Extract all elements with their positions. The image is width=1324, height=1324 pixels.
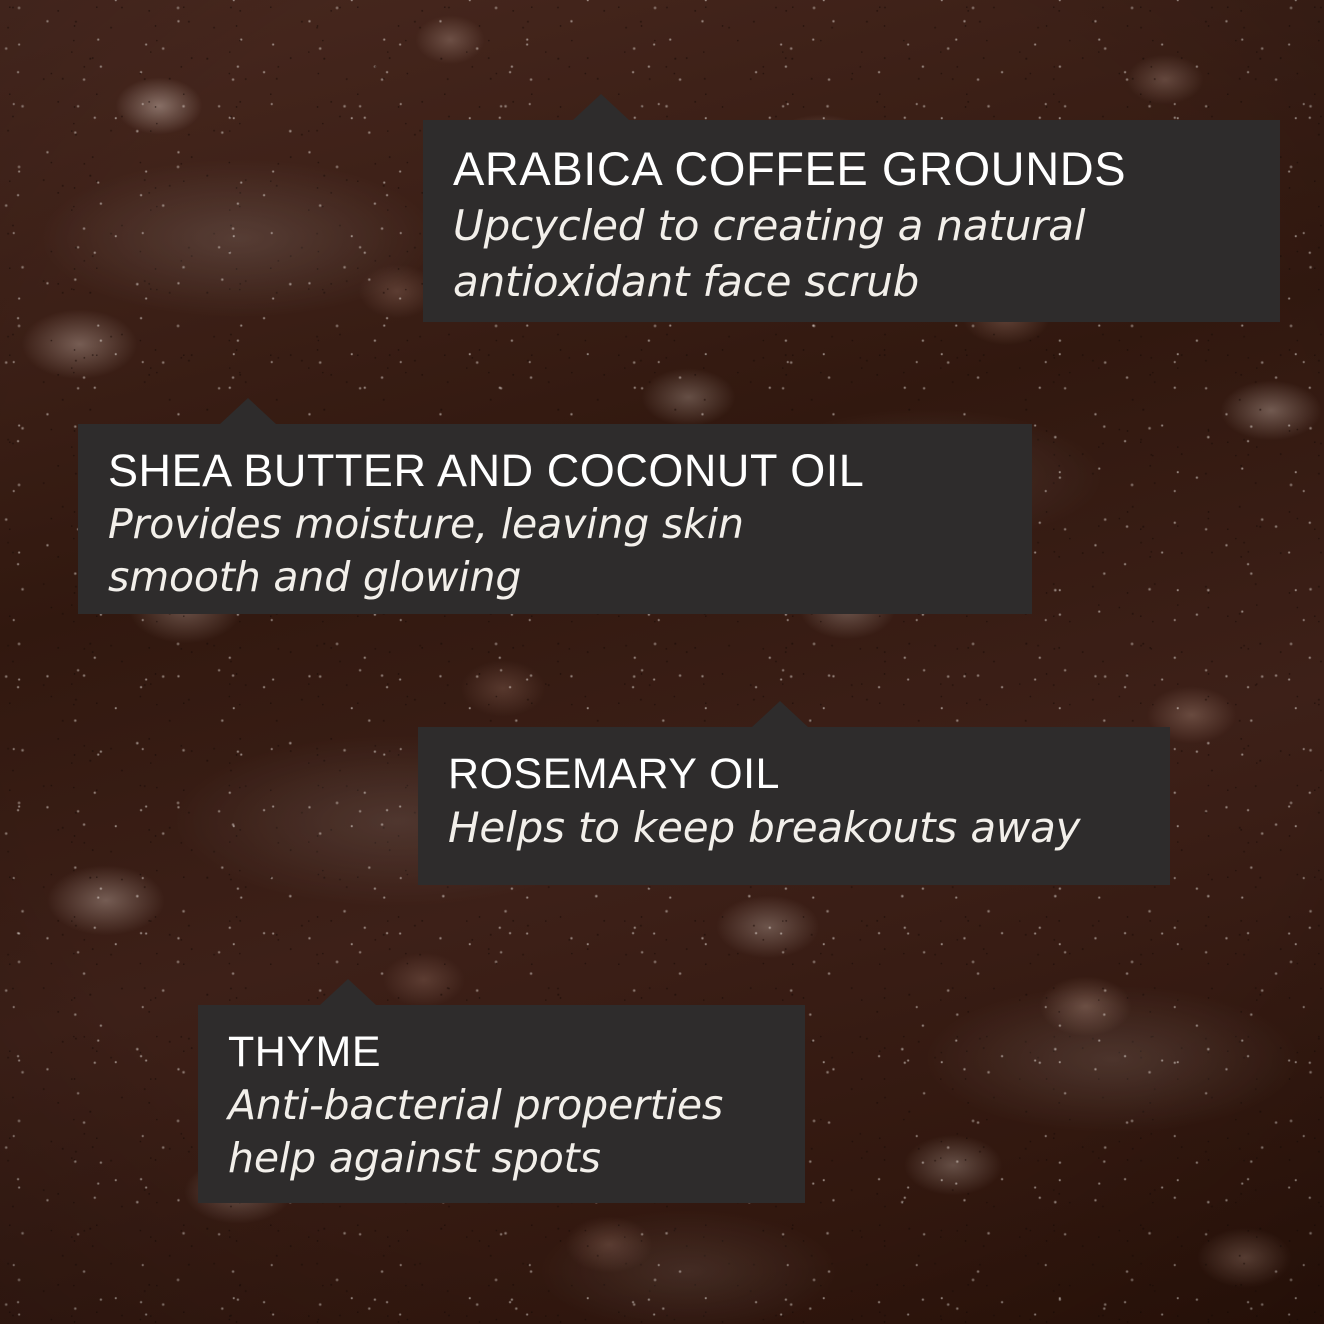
callout-title: ARABICA COFFEE GROUNDS bbox=[453, 140, 1250, 198]
callout-title: THYME bbox=[228, 1025, 775, 1079]
callout-description: Upcycled to creating a natural antioxida… bbox=[453, 198, 1250, 310]
callout-rosemary-oil: ROSEMARY OIL Helps to keep breakouts awa… bbox=[418, 727, 1170, 885]
callout-arabica-coffee-grounds: ARABICA COFFEE GROUNDS Upcycled to creat… bbox=[423, 120, 1280, 322]
callout-description: Provides moisture, leaving skin smooth a… bbox=[108, 498, 1002, 604]
callout-title: SHEA BUTTER AND COCONUT OIL bbox=[108, 444, 1002, 498]
callout-thyme: THYME Anti-bacterial properties help aga… bbox=[198, 1005, 805, 1203]
callout-description: Anti-bacterial properties help against s… bbox=[228, 1079, 775, 1185]
callout-description: Helps to keep breakouts away bbox=[448, 801, 1140, 855]
callout-pointer-icon bbox=[320, 979, 376, 1005]
callout-description-line: Helps to keep breakouts away bbox=[448, 801, 1140, 855]
callout-description-line: Upcycled to creating a natural bbox=[453, 198, 1250, 254]
callout-description-line: Provides moisture, leaving skin bbox=[108, 498, 1002, 551]
callout-description-line: help against spots bbox=[228, 1132, 775, 1185]
callout-pointer-icon bbox=[573, 94, 629, 120]
callout-shea-butter-and-coconut-oil: SHEA BUTTER AND COCONUT OIL Provides moi… bbox=[78, 424, 1032, 614]
callout-description-line: antioxidant face scrub bbox=[453, 254, 1250, 310]
callout-pointer-icon bbox=[752, 701, 808, 727]
callout-pointer-icon bbox=[220, 398, 276, 424]
callout-description-line: smooth and glowing bbox=[108, 551, 1002, 604]
infographic-stage: ARABICA COFFEE GROUNDS Upcycled to creat… bbox=[0, 0, 1324, 1324]
callout-title: ROSEMARY OIL bbox=[448, 747, 1140, 801]
callout-description-line: Anti-bacterial properties bbox=[228, 1079, 775, 1132]
